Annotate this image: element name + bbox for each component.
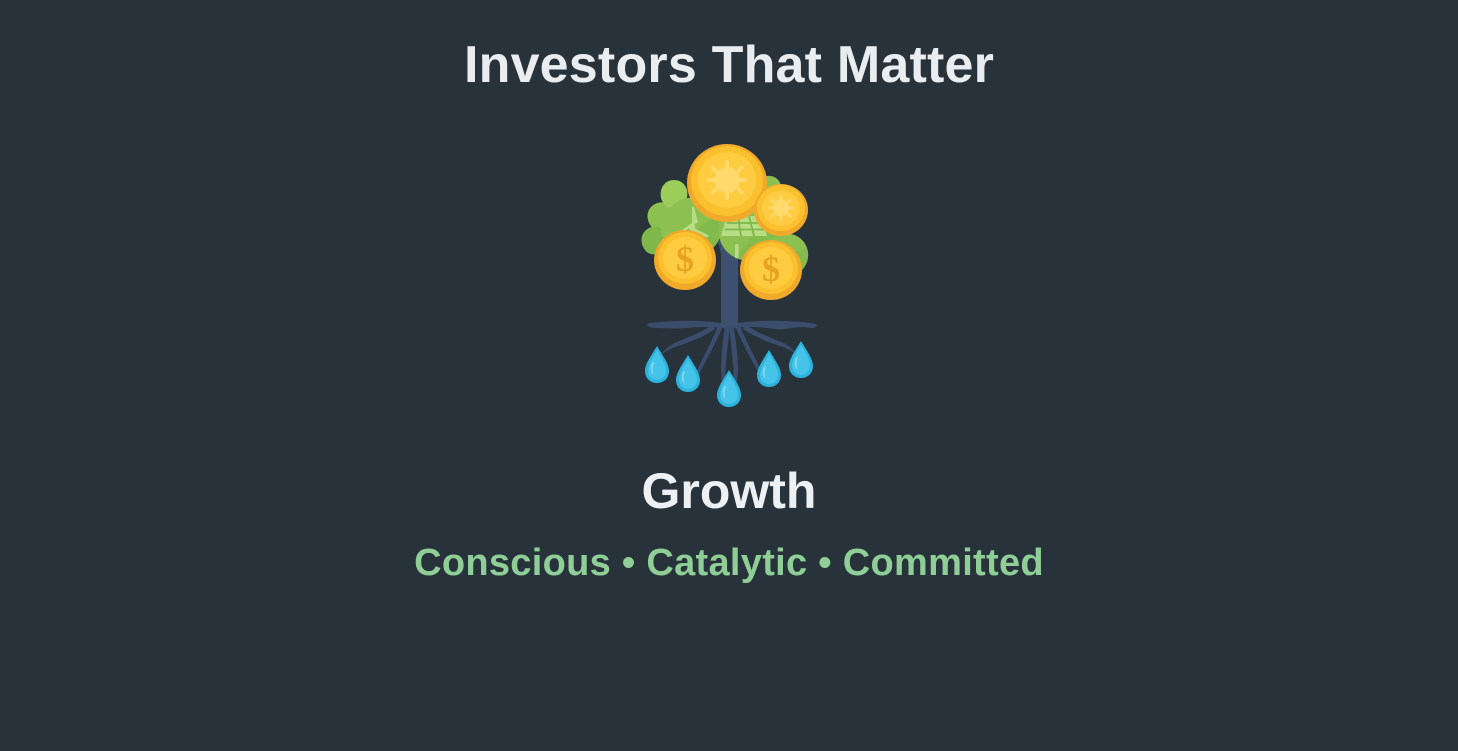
slide-root: Investors That Matter [0, 0, 1458, 751]
sun-icon [707, 160, 747, 200]
dollar-glyph: $ [676, 239, 694, 279]
growth-heading: Growth [642, 408, 817, 519]
money-tree-illustration: $ $ [609, 138, 849, 408]
page-title: Investors That Matter [464, 0, 994, 96]
money-tree-svg: $ $ [609, 138, 849, 408]
water-droplets [645, 341, 813, 407]
dollar-glyph-right: $ [762, 249, 780, 289]
water-droplet [789, 341, 813, 378]
dollar-coin-left: $ [654, 230, 716, 290]
water-droplet [757, 350, 781, 387]
sun-icon-small [768, 195, 795, 222]
dollar-coin-right: $ [740, 240, 802, 300]
water-droplet [676, 355, 700, 392]
tagline: Conscious • Catalytic • Committed [414, 519, 1044, 587]
sun-coin-medium [754, 184, 808, 236]
